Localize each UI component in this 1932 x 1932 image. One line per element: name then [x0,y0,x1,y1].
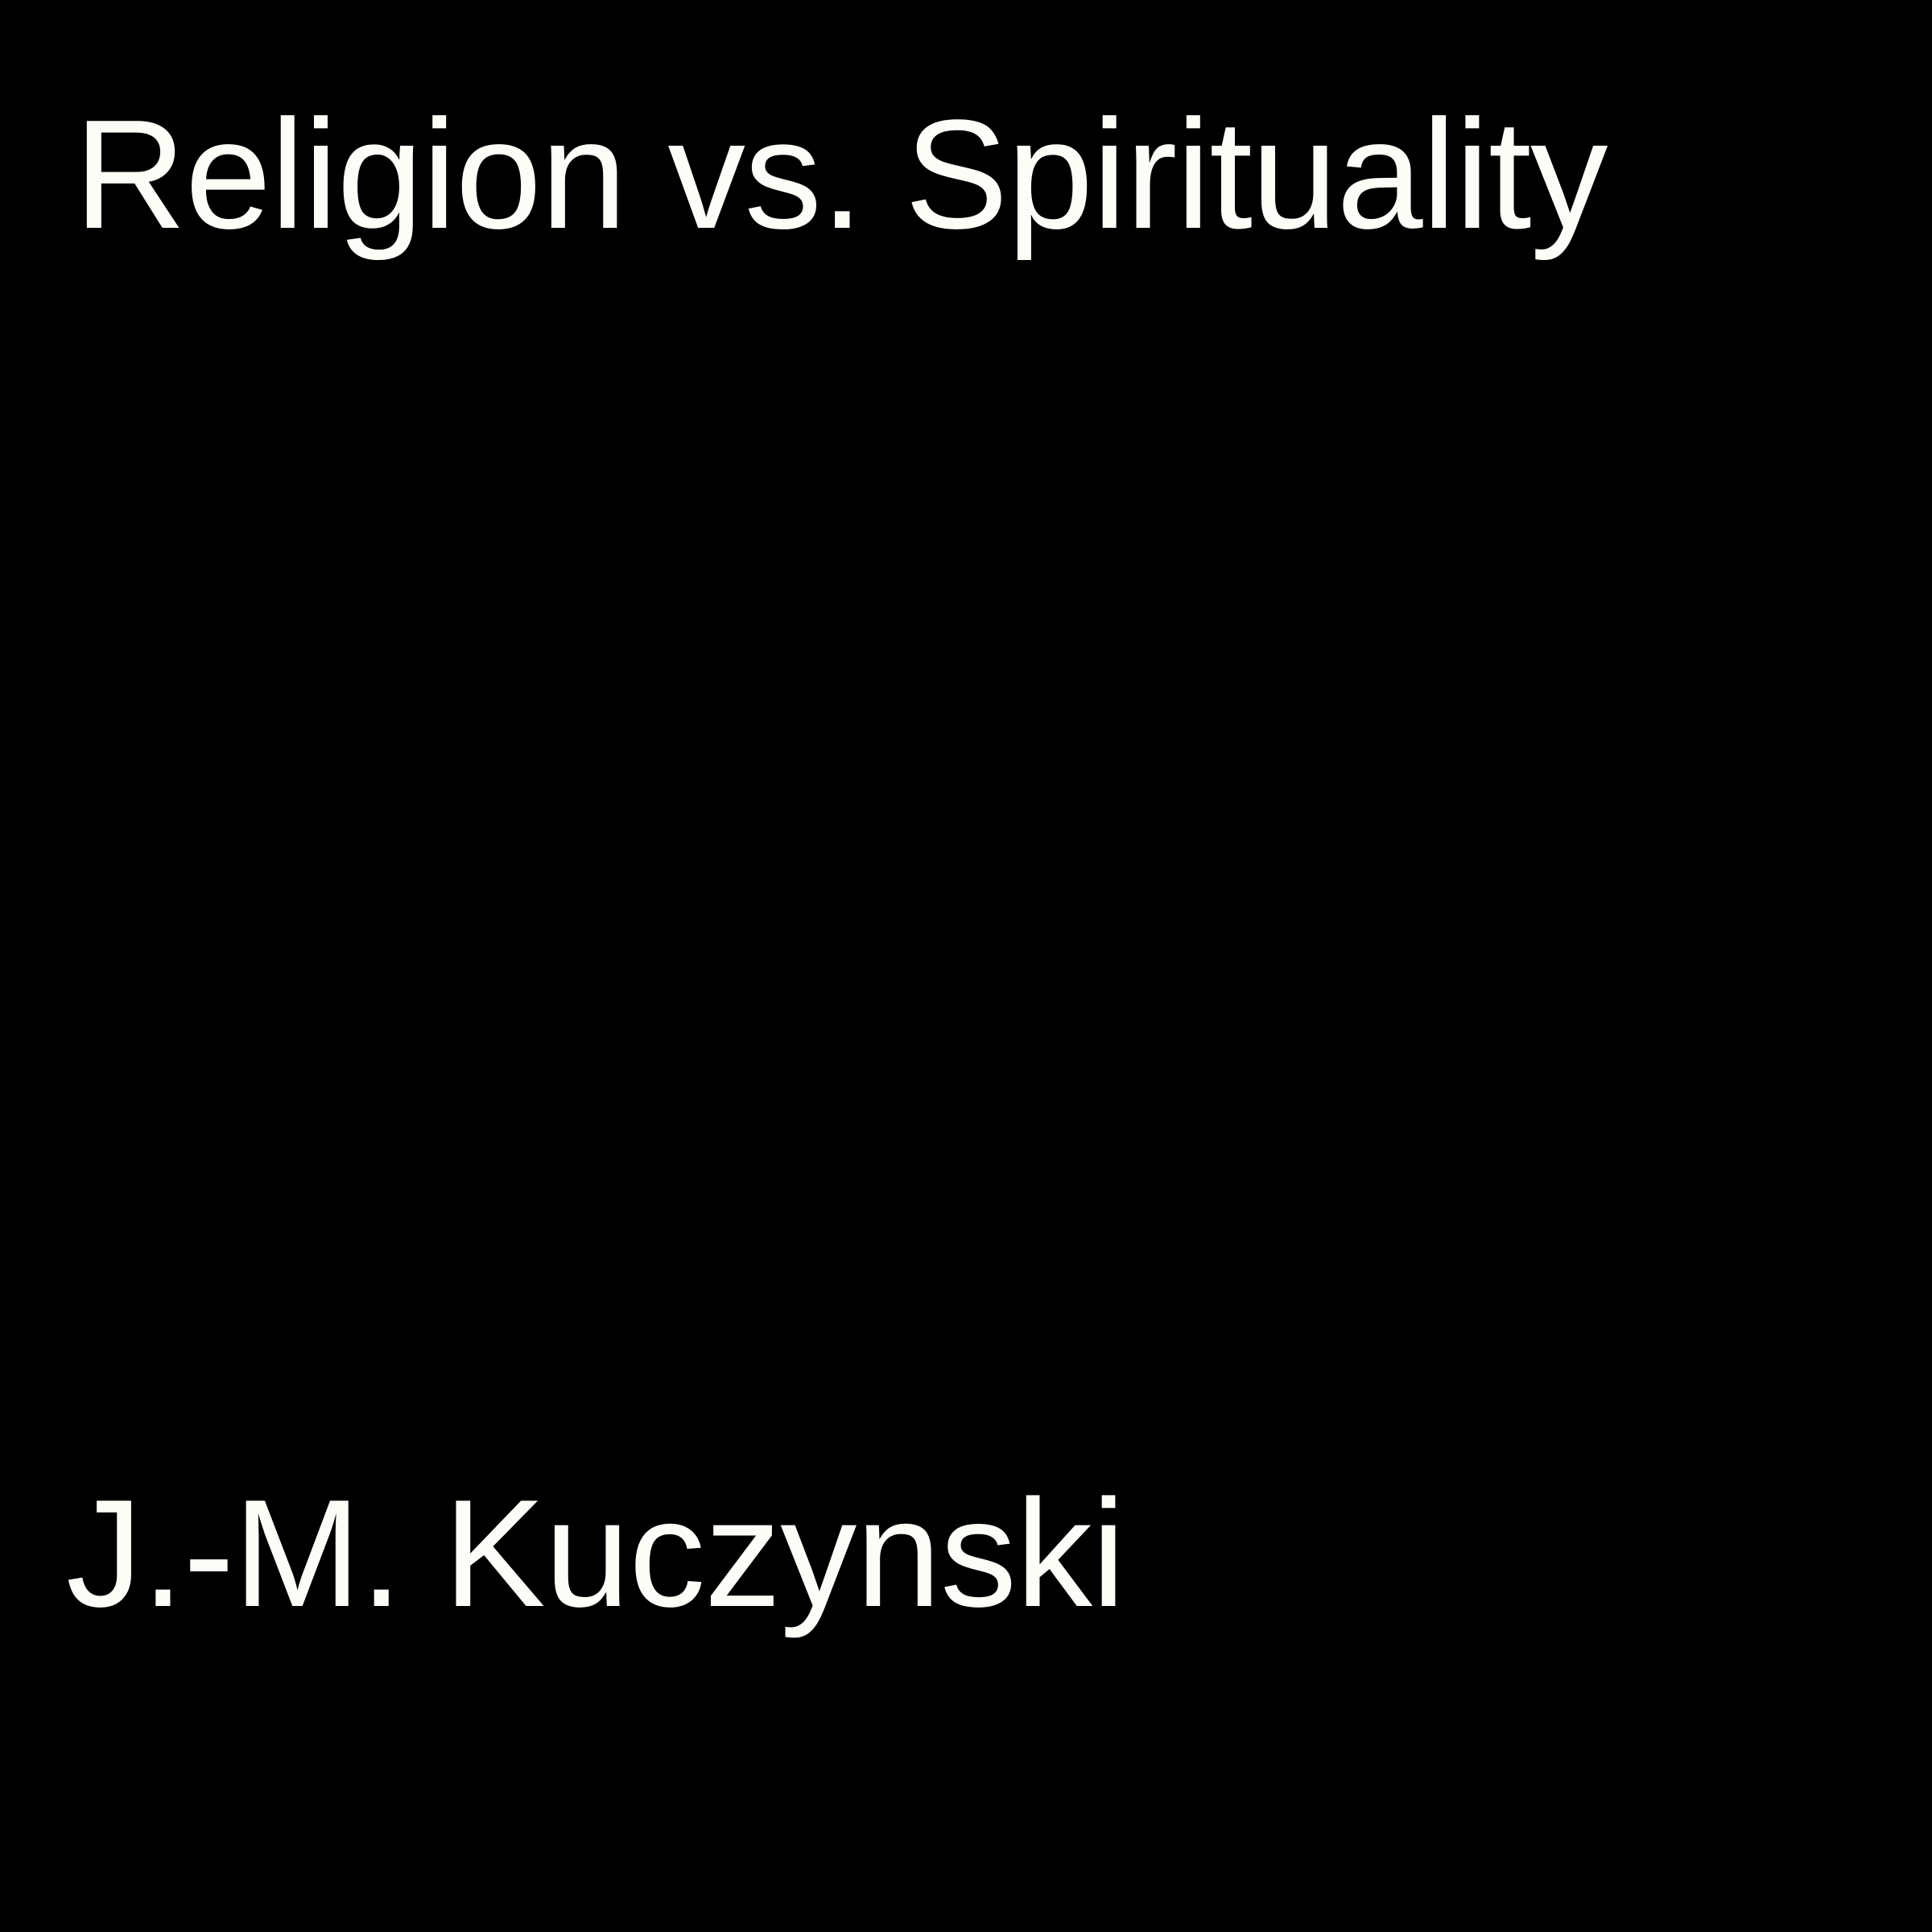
cover-author-block: J.-M. Kuczynski [66,1477,1837,1630]
cover-title-block: Religion vs. Spirituality [74,97,1845,252]
page-title: Religion vs. Spirituality [74,97,1845,252]
book-cover: Religion vs. Spirituality J.-M. Kuczynsk… [0,0,1932,1932]
author-name: J.-M. Kuczynski [66,1477,1837,1630]
